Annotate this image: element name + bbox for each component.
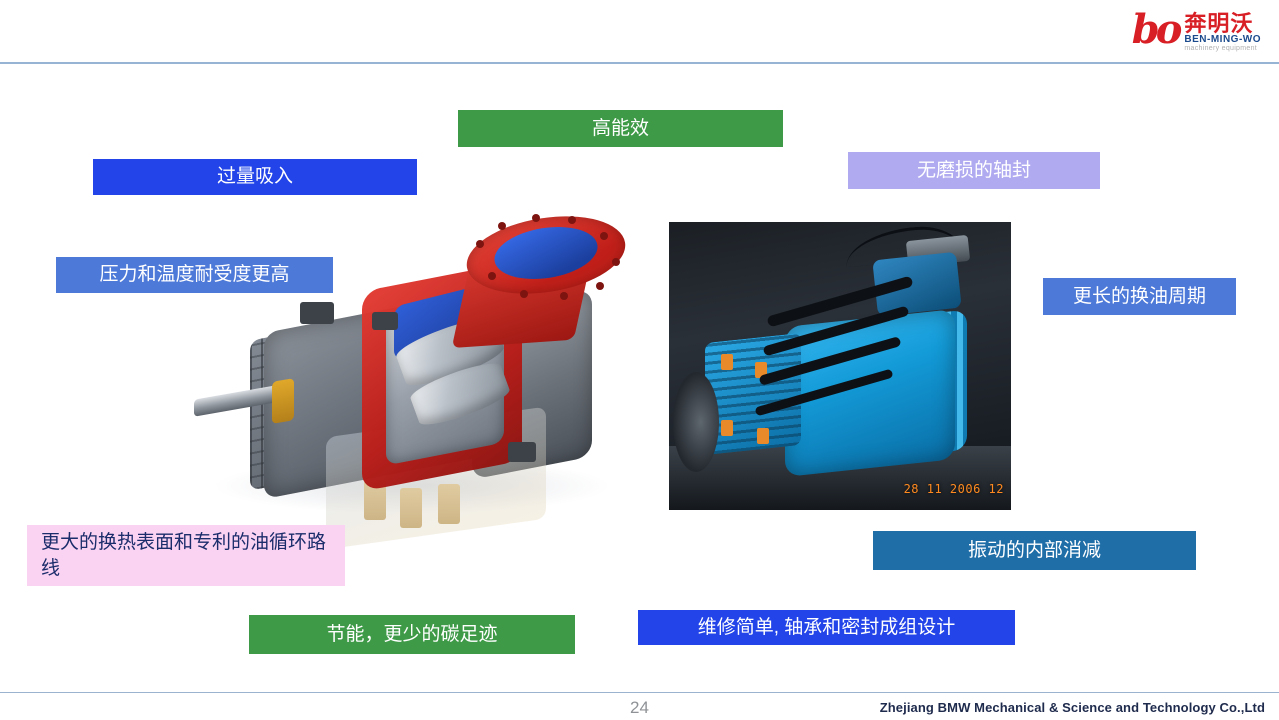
cad-shaft-collar xyxy=(272,378,294,424)
cad-port-block xyxy=(300,302,334,324)
photo-cooler-fitting xyxy=(757,428,769,444)
photo-drive-pulley xyxy=(673,372,719,472)
photo-oil-cooler xyxy=(705,333,801,455)
cad-flange-bolt xyxy=(612,258,620,266)
callout-maintenance: 维修简单, 轴承和密封成组设计 xyxy=(638,610,1015,645)
cad-flange-bolt xyxy=(498,222,506,230)
compressor-cad-illustration xyxy=(176,196,656,552)
callout-heat-surface: 更大的换热表面和专利的油循环路线 xyxy=(27,525,345,586)
cad-port-block xyxy=(508,442,536,462)
logo-chinese-name: 奔明沃 xyxy=(1184,12,1261,35)
photo-cooler-fitting xyxy=(721,420,733,436)
cad-glass-tube xyxy=(400,488,422,528)
callout-oil-change: 更长的换油周期 xyxy=(1043,278,1236,315)
compressor-photo: 28 11 2006 12 xyxy=(669,222,1011,510)
callout-shaft-seal: 无磨损的轴封 xyxy=(848,152,1100,189)
cad-flange-bolt xyxy=(520,290,528,298)
cad-flange-bolt xyxy=(568,216,576,224)
cad-flange-bolt xyxy=(560,292,568,300)
cad-flange-bolt xyxy=(488,272,496,280)
callout-energy-saving: 节能，更少的碳足迹 xyxy=(249,615,575,654)
slide: bo 奔明沃 BEN-MING-WO machinery equipment xyxy=(0,0,1279,720)
callout-pressure-temp: 压力和温度耐受度更高 xyxy=(56,257,333,293)
footer-company-name: Zhejiang BMW Mechanical & Science and Te… xyxy=(880,700,1265,715)
photo-cooler-fitting xyxy=(721,354,733,370)
logo-mark-icon: bo xyxy=(1132,10,1179,50)
callout-high-efficiency: 高能效 xyxy=(458,110,783,147)
photo-timestamp: 28 11 2006 12 xyxy=(904,482,1004,496)
company-logo: bo 奔明沃 BEN-MING-WO machinery equipment xyxy=(1055,6,1261,58)
footer-divider xyxy=(0,692,1279,693)
cad-flange-bolt xyxy=(600,232,608,240)
logo-tagline: machinery equipment xyxy=(1184,45,1261,52)
cad-flange-bolt xyxy=(532,214,540,222)
callout-over-suction: 过量吸入 xyxy=(93,159,417,195)
logo-text-block: 奔明沃 BEN-MING-WO machinery equipment xyxy=(1184,12,1261,53)
header-divider xyxy=(0,62,1279,64)
cad-port-block xyxy=(372,312,398,330)
cad-flange-bolt xyxy=(476,240,484,248)
logo-english-name: BEN-MING-WO xyxy=(1184,35,1261,46)
cad-flange-bolt xyxy=(596,282,604,290)
callout-vibration: 振动的内部消减 xyxy=(873,531,1196,570)
cad-glass-tube xyxy=(438,484,460,524)
